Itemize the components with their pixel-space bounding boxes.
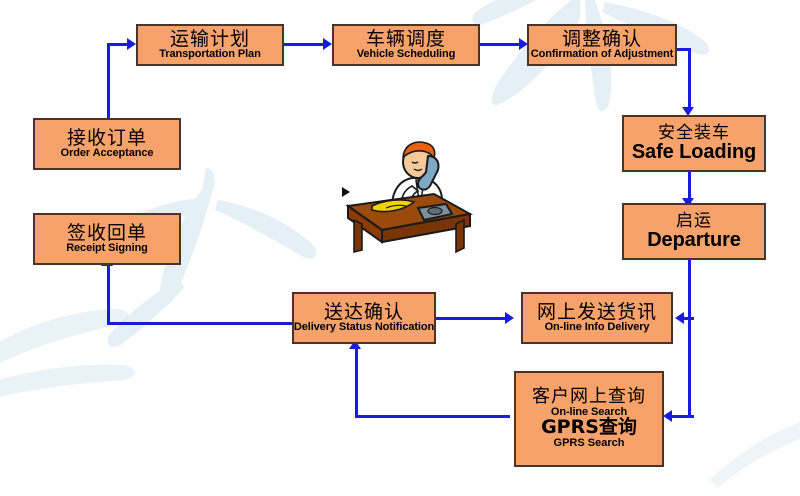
node-delivery-status-cn: 送达确认 <box>324 303 404 322</box>
connector-plan-to-scheduling <box>283 43 325 46</box>
node-confirmation-en: Confirmation of Adjustment <box>531 49 673 60</box>
cursor-arrow-icon <box>342 187 350 197</box>
watermark-leaf-bottom-right <box>700 380 800 496</box>
node-delivery-status-notification[interactable]: 送达确认 Delivery Status Notification <box>292 292 436 344</box>
node-online-info-delivery-cn: 网上发送货讯 <box>537 303 657 322</box>
connector-delivery-to-receipt-vertical <box>107 265 110 325</box>
node-online-search[interactable]: 客户网上查询 On-line Search GPRS查询 GPRS Search <box>514 371 664 467</box>
connector-scheduling-to-confirmation <box>479 43 521 46</box>
node-delivery-status-en: Delivery Status Notification <box>294 322 434 333</box>
node-gprs-search-en: GPRS Search <box>554 438 625 450</box>
node-confirmation-cn: 调整确认 <box>562 30 642 49</box>
node-transportation-plan[interactable]: 运输计划 Transportation Plan <box>136 24 284 66</box>
node-transportation-plan-en: Transportation Plan <box>159 49 260 60</box>
node-order-acceptance-cn: 接收订单 <box>67 129 147 148</box>
operator-at-desk-clipart <box>338 134 478 269</box>
connector-departure-trunk <box>688 259 691 417</box>
node-departure-cn: 启运 <box>676 213 712 230</box>
watermark-leaf-top <box>430 0 720 134</box>
node-online-search-cn: 客户网上查询 <box>532 388 646 407</box>
node-vehicle-scheduling-cn: 车辆调度 <box>366 30 446 49</box>
arrowhead-to-vehicle-scheduling <box>323 38 332 50</box>
flowchart-canvas: 运输计划 Transportation Plan 车辆调度 Vehicle Sc… <box>0 0 800 496</box>
connector-confirmation-to-loading-vertical <box>688 48 691 111</box>
node-receipt-signing-cn: 签收回单 <box>67 224 147 243</box>
connector-order-to-plan-vertical <box>107 43 110 120</box>
arrowhead-to-info-delivery-from-delivery <box>505 312 514 324</box>
node-safe-loading-en: Safe Loading <box>632 142 756 162</box>
node-receipt-signing[interactable]: 签收回单 Receipt Signing <box>33 213 181 265</box>
connector-order-to-plan-horizontal <box>107 43 129 46</box>
connector-delivery-to-info <box>434 317 508 320</box>
node-vehicle-scheduling-en: Vehicle Scheduling <box>357 49 455 60</box>
node-safe-loading[interactable]: 安全装车 Safe Loading <box>622 115 766 172</box>
arrowhead-to-online-info-delivery <box>675 312 684 324</box>
node-departure-en: Departure <box>647 230 741 250</box>
node-order-acceptance-en: Order Acceptance <box>61 148 154 159</box>
node-confirmation-of-adjustment[interactable]: 调整确认 Confirmation of Adjustment <box>527 24 677 66</box>
arrowhead-to-online-search <box>663 410 672 422</box>
node-receipt-signing-en: Receipt Signing <box>66 243 148 254</box>
node-transportation-plan-cn: 运输计划 <box>170 30 250 49</box>
connector-trunk-to-info-delivery <box>684 317 694 320</box>
node-order-acceptance[interactable]: 接收订单 Order Acceptance <box>33 118 181 170</box>
watermark-leaf-left <box>0 285 180 415</box>
node-gprs-search-cn: GPRS查询 <box>541 418 637 438</box>
node-online-info-delivery[interactable]: 网上发送货讯 On-line Info Delivery <box>521 292 673 344</box>
node-safe-loading-cn: 安全装车 <box>658 125 730 142</box>
node-departure[interactable]: 启运 Departure <box>622 203 766 260</box>
arrowhead-to-transportation-plan <box>127 38 136 50</box>
connector-search-to-delivery-vertical <box>355 348 358 418</box>
node-online-info-delivery-en: On-line Info Delivery <box>545 322 650 333</box>
connector-delivery-to-receipt-horizontal <box>107 322 297 325</box>
node-vehicle-scheduling[interactable]: 车辆调度 Vehicle Scheduling <box>332 24 480 66</box>
connector-search-to-delivery-horizontal <box>355 415 510 418</box>
connector-trunk-to-online-search <box>672 415 694 418</box>
